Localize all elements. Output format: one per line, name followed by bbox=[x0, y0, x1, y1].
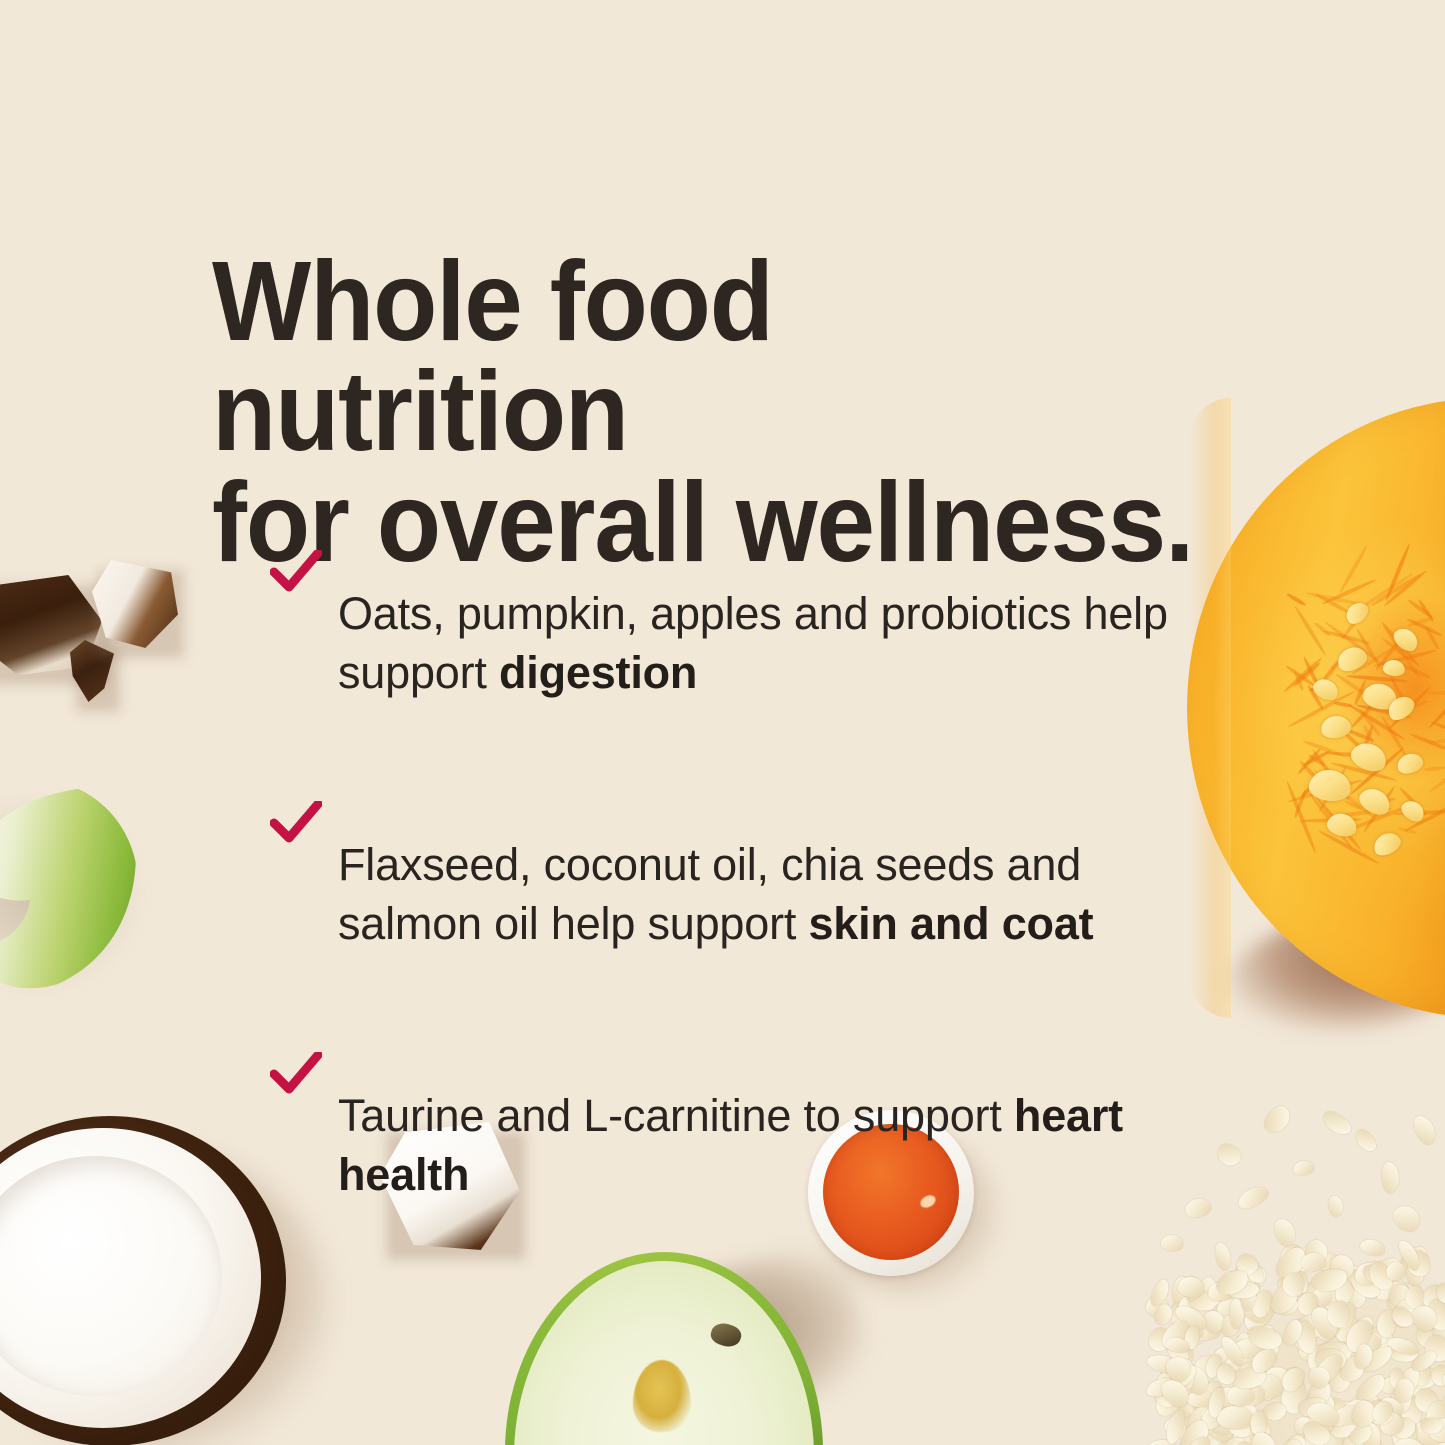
check-icon bbox=[270, 1052, 322, 1098]
check-icon bbox=[270, 550, 322, 596]
content-layer: Whole food nutrition for overall wellnes… bbox=[0, 0, 1445, 1445]
benefit-text-heart-health: Taurine and L-carnitine to support heart… bbox=[338, 1087, 1230, 1204]
benefits-list: Oats, pumpkin, apples and probiotics hel… bbox=[270, 540, 1230, 1249]
page-title: Whole food nutrition for overall wellnes… bbox=[212, 246, 1198, 578]
promo-canvas: Whole food nutrition for overall wellnes… bbox=[0, 0, 1445, 1445]
benefit-text-skin-and-coat: Flaxseed, coconut oil, chia seeds and sa… bbox=[338, 836, 1178, 953]
list-item: Taurine and L-carnitine to support heart… bbox=[270, 1042, 1230, 1249]
benefit-text-digestion: Oats, pumpkin, apples and probiotics hel… bbox=[338, 585, 1218, 702]
list-item: Flaxseed, coconut oil, chia seeds and sa… bbox=[270, 791, 1230, 998]
list-item: Oats, pumpkin, apples and probiotics hel… bbox=[270, 540, 1230, 747]
check-icon bbox=[270, 801, 322, 847]
benefit-emphasis: digestion bbox=[499, 647, 697, 698]
benefit-lead: Oats, pumpkin, apples and probiotics hel… bbox=[338, 588, 1168, 698]
benefit-lead: Taurine and L-carnitine to support bbox=[338, 1090, 1014, 1141]
benefit-emphasis: skin and coat bbox=[808, 898, 1093, 949]
